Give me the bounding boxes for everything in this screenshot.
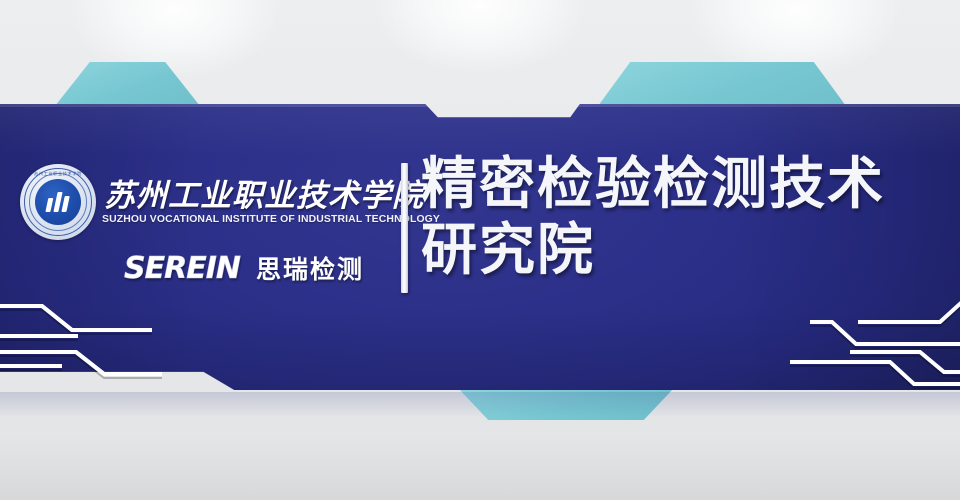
logo-block: 苏州工业职业技术学院 苏州工业职业技术学院 SUZHOU VOCATIONAL … bbox=[14, 158, 394, 293]
emblem-disc bbox=[35, 179, 81, 225]
page-title: 精密检验检测技术 研究院 bbox=[421, 152, 941, 284]
page-title-line-1: 精密检验检测技术 bbox=[421, 152, 941, 218]
partner-logo-row: SEREIN 思瑞检测 bbox=[124, 250, 364, 286]
serein-wordmark: SEREIN bbox=[124, 251, 240, 286]
vertical-divider-bar bbox=[401, 163, 408, 293]
university-name-en: SUZHOU VOCATIONAL INSTITUTE OF INDUSTRIA… bbox=[102, 214, 408, 225]
serein-name-cn: 思瑞检测 bbox=[256, 250, 364, 286]
university-name-cn: 苏州工业职业技术学院 bbox=[104, 170, 404, 215]
emblem-arc-text-top: 苏州工业职业技术学院 bbox=[20, 171, 96, 177]
floor-surface bbox=[0, 432, 960, 500]
emblem-monogram-icon bbox=[45, 192, 70, 212]
teal-hexagon-bottom-center bbox=[458, 388, 674, 420]
teal-hexagon-top-right bbox=[598, 62, 846, 106]
signage-scene: 苏州工业职业技术学院 苏州工业职业技术学院 SUZHOU VOCATIONAL … bbox=[0, 0, 960, 500]
page-title-line-2: 研究院 bbox=[421, 218, 941, 284]
suzhou-institute-emblem-icon: 苏州工业职业技术学院 bbox=[20, 164, 96, 240]
